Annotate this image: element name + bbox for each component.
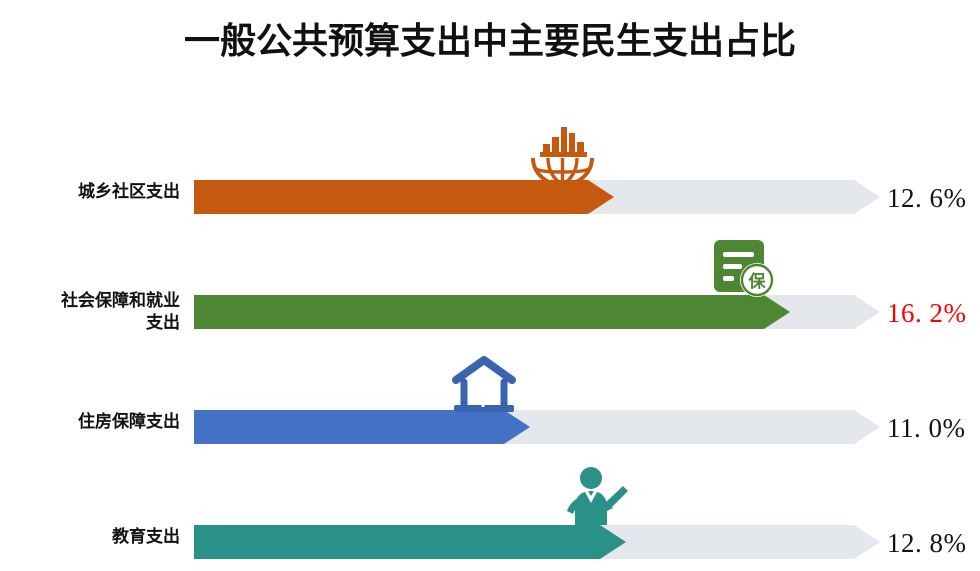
chart-row-1: 城乡社区支出 <box>0 100 980 220</box>
category-label-4: 教育支出 <box>0 526 180 548</box>
chart-row-2: 社会保障和就业 支出 保 16. 2 <box>0 215 980 330</box>
house-sprout-icon <box>448 355 520 413</box>
category-label-3-line1: 住房保障支出 <box>78 412 180 432</box>
chart-container: 一般公共预算支出中主要民生支出占比 城乡社区支出 <box>0 0 980 571</box>
value-label-4: 12. 8% <box>887 528 967 559</box>
chart-row-4: 教育支出 12. <box>0 445 980 565</box>
category-label-1-line1: 城乡社区支出 <box>78 182 180 202</box>
teacher-icon <box>565 467 633 527</box>
category-label-2: 社会保障和就业 支出 <box>0 290 180 334</box>
category-label-4-line1: 教育支出 <box>112 527 180 547</box>
social-security-card-icon: 保 <box>712 238 778 300</box>
category-label-2-line1: 社会保障和就业 <box>61 291 180 311</box>
city-globe-icon <box>527 124 597 186</box>
value-label-3: 11. 0% <box>887 413 966 444</box>
category-label-3: 住房保障支出 <box>0 411 180 433</box>
chart-plot-area: 城乡社区支出 <box>0 100 980 570</box>
chart-row-3: 住房保障支出 <box>0 330 980 445</box>
value-label-2: 16. 2% <box>887 298 967 329</box>
bar-fill-4 <box>194 525 626 559</box>
bar-fill-2 <box>194 295 790 329</box>
bar-fill-3 <box>194 410 530 444</box>
category-label-1: 城乡社区支出 <box>0 181 180 203</box>
value-label-1: 12. 6% <box>887 183 967 214</box>
svg-text:保: 保 <box>748 271 767 292</box>
chart-title: 一般公共预算支出中主要民生支出占比 <box>0 12 980 64</box>
